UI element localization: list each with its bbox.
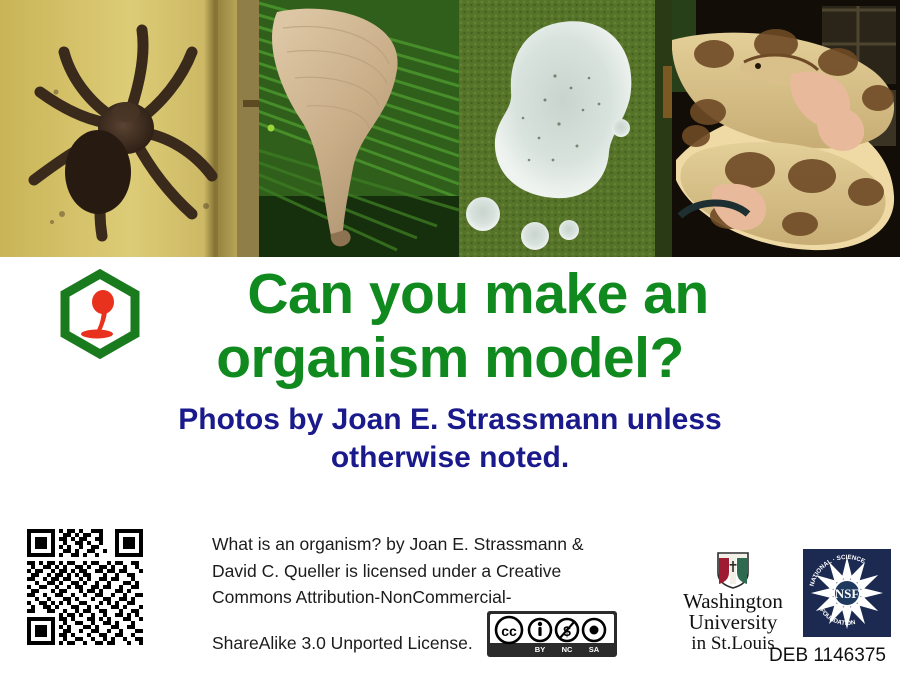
hexagon-outline xyxy=(65,274,135,354)
license-line-4: ShareAlike 3.0 Unported License. xyxy=(212,630,473,657)
wustl-wordmark: Washington University in St.Louis xyxy=(679,591,787,653)
nsf-center-text: NSF xyxy=(835,586,860,601)
photo-credit-line-1: Photos by Joan E. Strassmann unless xyxy=(0,401,900,439)
svg-text:NC: NC xyxy=(561,645,572,654)
fruiting-body-shape xyxy=(81,290,114,339)
wustl-line-2: University xyxy=(679,612,787,633)
svg-text:SA: SA xyxy=(589,645,600,654)
national-science-foundation-logo: NSF NATIONAL · SCIENCE FOUNDATION xyxy=(803,549,891,637)
title-block: Can you make an organism model? Photos b… xyxy=(0,257,900,476)
grant-number: DEB 1146375 xyxy=(760,645,895,667)
washington-university-logo: Washington University in St.Louis xyxy=(679,551,787,653)
svg-text:BY: BY xyxy=(535,645,545,654)
license-statement: What is an organism? by Joan E. Strassma… xyxy=(212,531,662,657)
wustl-line-1: Washington xyxy=(679,591,787,612)
photo-strip xyxy=(0,0,900,257)
license-line-1: What is an organism? by Joan E. Strassma… xyxy=(212,531,662,558)
creative-commons-by-nc-sa-badge[interactable]: cc $ BY NC SA xyxy=(487,611,617,657)
photo-credit-line-2: otherwise noted. xyxy=(0,439,900,477)
lichen-photo xyxy=(459,0,672,257)
qr-code[interactable] xyxy=(27,529,143,645)
license-line-2: David C. Queller is licensed under a Cre… xyxy=(212,558,662,585)
license-line-3: Commons Attribution-NonCommercial- xyxy=(212,584,662,611)
tarantula-photo xyxy=(0,0,237,257)
wasp-nest-photo xyxy=(237,0,459,257)
footer: What is an organism? by Joan E. Strassma… xyxy=(0,523,900,675)
wustl-shield-icon xyxy=(716,551,750,589)
svg-text:cc: cc xyxy=(501,623,517,639)
photo-credit-subtitle: Photos by Joan E. Strassmann unless othe… xyxy=(0,401,900,476)
boa-constrictor-photo xyxy=(672,0,900,257)
hexagon-dictyostelium-logo xyxy=(55,269,145,359)
